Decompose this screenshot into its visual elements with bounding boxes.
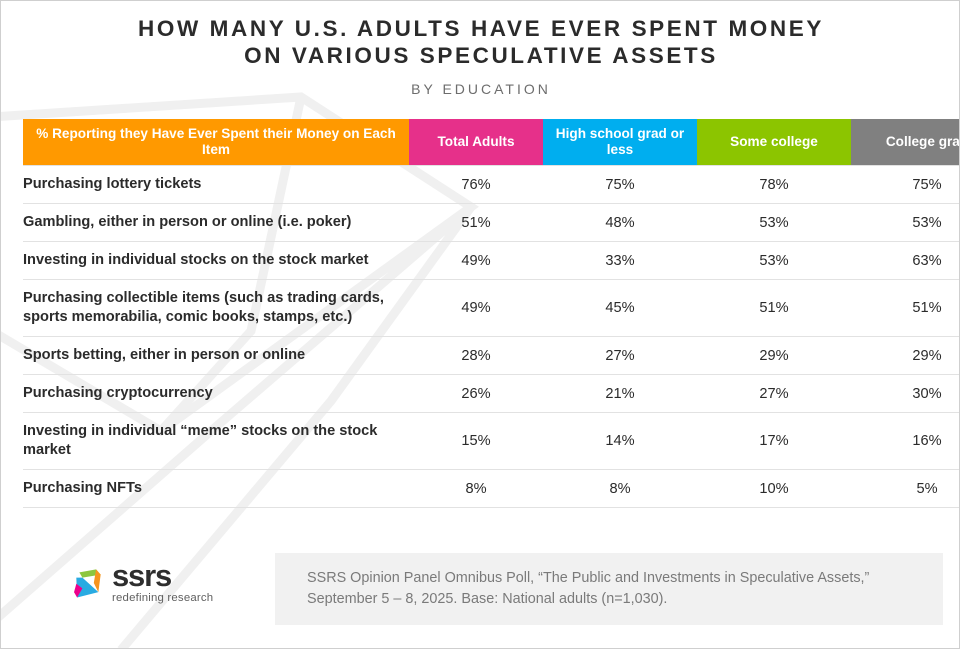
row-label: Purchasing collectible items (such as tr… xyxy=(23,280,409,337)
cell-high-school: 8% xyxy=(543,470,697,508)
table-row: Purchasing cryptocurrency 26% 21% 27% 30… xyxy=(23,375,960,413)
table-row: Purchasing collectible items (such as tr… xyxy=(23,280,960,337)
row-label: Sports betting, either in person or onli… xyxy=(23,337,409,375)
ssrs-ribbon-icon xyxy=(71,564,109,602)
cell-total-adults: 51% xyxy=(409,204,543,242)
ssrs-logo-text: ssrs redefining research xyxy=(112,561,213,604)
cell-college-grad: 16% xyxy=(851,413,960,470)
table-row: Purchasing NFTs 8% 8% 10% 5% xyxy=(23,470,960,508)
column-header-college-grad: College grad xyxy=(851,119,960,166)
speculative-assets-table: % Reporting they Have Ever Spent their M… xyxy=(23,119,960,508)
source-note: SSRS Opinion Panel Omnibus Poll, “The Pu… xyxy=(275,568,887,610)
slide-canvas: HOW MANY U.S. ADULTS HAVE EVER SPENT MON… xyxy=(0,0,960,649)
cell-total-adults: 76% xyxy=(409,166,543,204)
data-table-wrapper: % Reporting they Have Ever Spent their M… xyxy=(23,119,943,508)
source-note-box: SSRS Opinion Panel Omnibus Poll, “The Pu… xyxy=(275,553,943,625)
cell-college-grad: 5% xyxy=(851,470,960,508)
cell-some-college: 53% xyxy=(697,242,851,280)
table-row: Investing in individual stocks on the st… xyxy=(23,242,960,280)
table-header-row: % Reporting they Have Ever Spent their M… xyxy=(23,119,960,166)
cell-high-school: 33% xyxy=(543,242,697,280)
cell-total-adults: 49% xyxy=(409,242,543,280)
cell-college-grad: 51% xyxy=(851,280,960,337)
column-header-total-adults: Total Adults xyxy=(409,119,543,166)
cell-total-adults: 26% xyxy=(409,375,543,413)
cell-some-college: 17% xyxy=(697,413,851,470)
row-label: Gambling, either in person or online (i.… xyxy=(23,204,409,242)
footer: SSRS Opinion Panel Omnibus Poll, “The Pu… xyxy=(23,553,943,631)
cell-college-grad: 29% xyxy=(851,337,960,375)
cell-total-adults: 28% xyxy=(409,337,543,375)
cell-high-school: 27% xyxy=(543,337,697,375)
ssrs-logo: ssrs redefining research xyxy=(71,561,213,604)
column-header-item: % Reporting they Have Ever Spent their M… xyxy=(23,119,409,166)
ssrs-wordmark: ssrs xyxy=(112,561,213,591)
table-row: Gambling, either in person or online (i.… xyxy=(23,204,960,242)
row-label: Purchasing NFTs xyxy=(23,470,409,508)
cell-total-adults: 8% xyxy=(409,470,543,508)
cell-high-school: 48% xyxy=(543,204,697,242)
table-row: Investing in individual “meme” stocks on… xyxy=(23,413,960,470)
table-body: Purchasing lottery tickets 76% 75% 78% 7… xyxy=(23,166,960,508)
page-title: HOW MANY U.S. ADULTS HAVE EVER SPENT MON… xyxy=(1,15,960,69)
cell-some-college: 29% xyxy=(697,337,851,375)
cell-total-adults: 15% xyxy=(409,413,543,470)
cell-some-college: 51% xyxy=(697,280,851,337)
row-label: Purchasing lottery tickets xyxy=(23,166,409,204)
cell-college-grad: 53% xyxy=(851,204,960,242)
cell-college-grad: 63% xyxy=(851,242,960,280)
cell-some-college: 10% xyxy=(697,470,851,508)
table-header: % Reporting they Have Ever Spent their M… xyxy=(23,119,960,166)
cell-high-school: 75% xyxy=(543,166,697,204)
ssrs-tagline: redefining research xyxy=(112,592,213,604)
cell-college-grad: 75% xyxy=(851,166,960,204)
cell-some-college: 27% xyxy=(697,375,851,413)
row-label: Investing in individual stocks on the st… xyxy=(23,242,409,280)
table-row: Purchasing lottery tickets 76% 75% 78% 7… xyxy=(23,166,960,204)
cell-high-school: 45% xyxy=(543,280,697,337)
cell-high-school: 21% xyxy=(543,375,697,413)
cell-high-school: 14% xyxy=(543,413,697,470)
cell-college-grad: 30% xyxy=(851,375,960,413)
cell-some-college: 78% xyxy=(697,166,851,204)
cell-total-adults: 49% xyxy=(409,280,543,337)
column-header-high-school-grad-or-less: High school grad or less xyxy=(543,119,697,166)
row-label: Investing in individual “meme” stocks on… xyxy=(23,413,409,470)
page-subtitle: BY EDUCATION xyxy=(1,81,960,97)
table-row: Sports betting, either in person or onli… xyxy=(23,337,960,375)
column-header-some-college: Some college xyxy=(697,119,851,166)
row-label: Purchasing cryptocurrency xyxy=(23,375,409,413)
title-block: HOW MANY U.S. ADULTS HAVE EVER SPENT MON… xyxy=(1,15,960,97)
cell-some-college: 53% xyxy=(697,204,851,242)
